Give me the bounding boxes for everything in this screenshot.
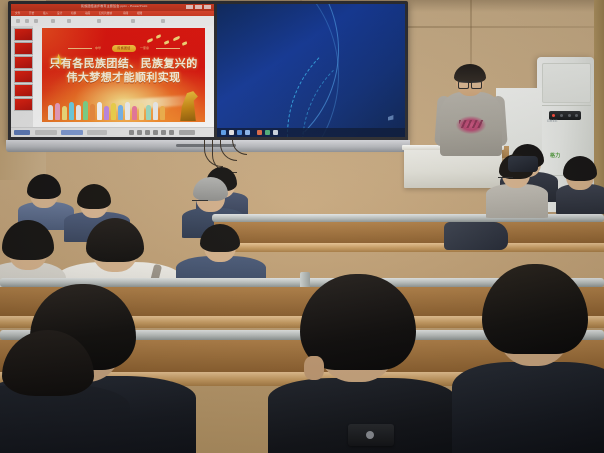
ribbon-tab-6[interactable]: 幻灯片放映 [99, 11, 112, 15]
tool-icon-font[interactable] [25, 19, 29, 23]
tool-icon-align[interactable] [51, 19, 55, 23]
smart-display[interactable]: 民族团结进步教育主题班会.pptx - PowerPoint 文件 开始 插入 … [8, 1, 408, 142]
ribbon-right-text: 一家亲 [140, 46, 149, 50]
presenter-glasses [458, 81, 482, 87]
ac-indicator [575, 114, 578, 117]
ribbon-tab-1[interactable]: 开始 [29, 11, 34, 15]
student-hair [482, 264, 588, 354]
taskbar-icon-files[interactable] [229, 130, 234, 135]
taskbar-icon-browser[interactable] [237, 130, 242, 135]
ribbon-pill-text: 民族团结 [112, 45, 136, 52]
tool-icon-shape[interactable] [67, 19, 71, 23]
slide-thumbnail[interactable] [14, 56, 33, 69]
ac-indicator [560, 114, 563, 117]
ribbon-tab-3[interactable]: 设计 [57, 11, 62, 15]
slide-thumbnail[interactable] [14, 70, 33, 83]
student-hair [2, 330, 94, 396]
close-icon[interactable] [204, 5, 211, 9]
phone-camera-icon [366, 431, 374, 439]
taskbar-icon-start[interactable] [221, 130, 226, 135]
taskbar-icon-settings[interactable] [245, 130, 250, 135]
student-bottom-left [0, 330, 130, 453]
slide-thumbnail[interactable] [14, 28, 33, 41]
slide-editing-stage[interactable]: 中华 民族团结 一家亲 只有各民族团结、民族复兴的 伟大梦想才能顺利实现 [33, 26, 214, 128]
item-on-front-desk [508, 156, 538, 172]
tool-icon-find[interactable] [131, 19, 135, 23]
ribbon-pill: 民族团结 [112, 45, 136, 52]
taskbar-icon-app-c[interactable] [273, 130, 278, 135]
ribbon-tab-2[interactable]: 插入 [43, 11, 48, 15]
powerpoint-title-text: 民族团结进步教育主题班会.pptx - PowerPoint [81, 4, 148, 8]
tool-icon-help[interactable] [161, 19, 165, 23]
display-left-panel[interactable]: 民族团结进步教育主题班会.pptx - PowerPoint 文件 开始 插入 … [11, 4, 214, 137]
slide-thumbnail[interactable] [14, 84, 33, 97]
current-slide[interactable]: 中华 民族团结 一家亲 只有各民族团结、民族复兴的 伟大梦想才能顺利实现 [42, 28, 205, 122]
student-hair [77, 184, 111, 209]
slide-headline-line2: 伟大梦想才能顺利实现 [42, 69, 205, 85]
tool-icon-arrange[interactable] [97, 19, 101, 23]
presenter [436, 66, 506, 156]
student-hair [27, 174, 61, 199]
minimize-icon[interactable] [186, 5, 193, 9]
slide-thumbnail-pane[interactable] [11, 26, 34, 128]
ribbon-tab-4[interactable]: 切换 [71, 11, 76, 15]
presenter-shirt-graphic [456, 116, 486, 134]
ethnic-dancers-illustration [46, 94, 166, 120]
student-hair [200, 224, 240, 252]
display-right-panel[interactable] [217, 4, 405, 137]
ribbon-tab-5[interactable]: 动画 [85, 11, 90, 15]
tool-icon-bold[interactable] [34, 19, 38, 23]
tool-icon-paste[interactable] [16, 19, 20, 23]
ac-indicator [568, 114, 571, 117]
powerpoint-titlebar: 民族团结进步教育主题班会.pptx - PowerPoint [11, 4, 214, 11]
maximize-icon[interactable] [195, 5, 202, 9]
jacket-on-desk [444, 222, 508, 250]
student-shirt [452, 362, 604, 453]
ribbon-tab-7[interactable]: 审阅 [123, 11, 128, 15]
student-hair-gray [193, 177, 228, 201]
ac-seam [540, 105, 591, 106]
desk-top-back [212, 243, 604, 252]
slide-thumbnail[interactable] [14, 42, 33, 55]
student-ear [304, 356, 324, 380]
taskbar-icon-app-b[interactable] [265, 130, 270, 135]
student-hair [86, 218, 144, 262]
ac-panel-label: GREE [547, 119, 558, 123]
slide-thumbnail[interactable] [14, 98, 33, 111]
taskbar-icon-app-a[interactable] [257, 130, 262, 135]
slide-ribbon-banner: 中华 民族团结 一家亲 [68, 45, 180, 52]
ac-grille [542, 63, 591, 103]
ribbon-tab-8[interactable]: 视图 [137, 11, 142, 15]
student-glasses [192, 200, 208, 203]
window-controls[interactable] [186, 5, 211, 9]
student-hair [2, 220, 54, 260]
student-shirt [486, 184, 548, 218]
wallpaper-swirl [257, 4, 405, 137]
student-hair [563, 156, 597, 181]
ac-power-indicator [552, 114, 555, 117]
powerpoint-statusbar[interactable] [11, 127, 214, 137]
desktop-taskbar[interactable] [217, 128, 405, 137]
ribbon-left-text: 中华 [95, 46, 101, 50]
student-glasses [498, 177, 513, 180]
classroom-photo: 民族团结进步教育主题班会.pptx - PowerPoint 文件 开始 插入 … [0, 0, 604, 453]
student-front-right [452, 266, 604, 453]
desk-panel-back [214, 222, 604, 244]
phone-on-desk[interactable] [348, 424, 394, 446]
student-far-right [556, 158, 604, 210]
ribbon-tab-0[interactable]: 文件 [15, 11, 20, 15]
